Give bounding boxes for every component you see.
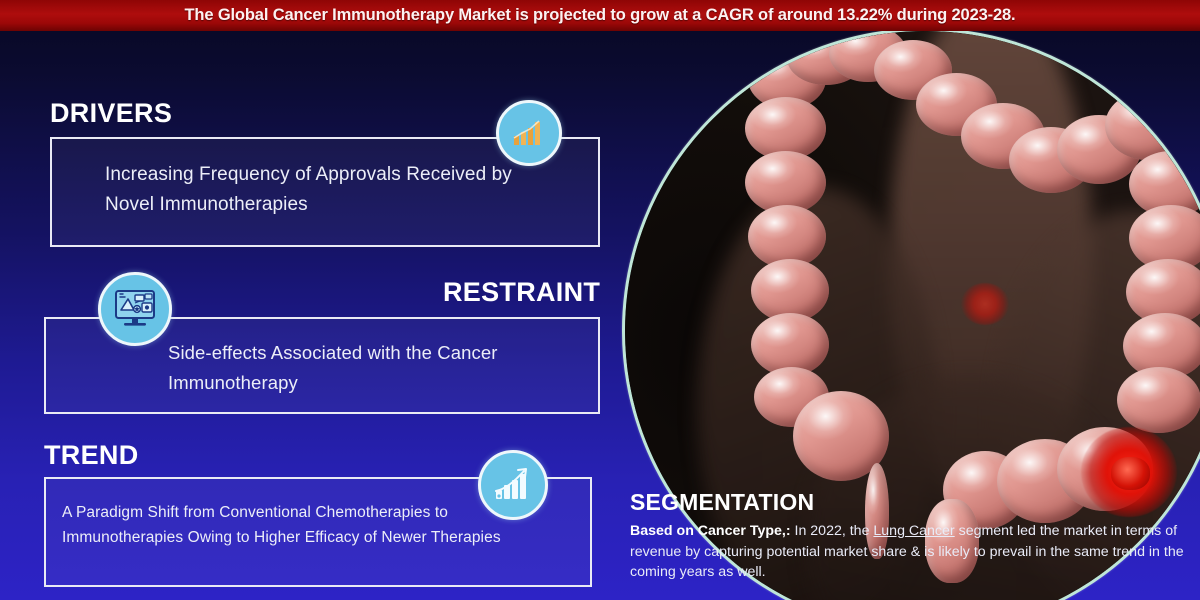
infographic-canvas: The Global Cancer Immunotherapy Market i… xyxy=(0,0,1200,600)
header-title: The Global Cancer Immunotherapy Market i… xyxy=(185,6,1016,25)
section-label-drivers: DRIVERS xyxy=(50,98,172,129)
section-label-restraint: RESTRAINT xyxy=(443,277,600,308)
header-banner: The Global Cancer Immunotherapy Market i… xyxy=(0,0,1200,31)
drivers-body-text: Increasing Frequency of Approvals Receiv… xyxy=(105,160,525,220)
segmentation-title: SEGMENTATION xyxy=(630,489,1190,516)
growth-chart-arrow-icon xyxy=(478,450,548,520)
segmentation-body: Based on Cancer Type,: In 2022, the Lung… xyxy=(630,521,1190,583)
trend-body-text: A Paradigm Shift from Conventional Chemo… xyxy=(62,500,532,550)
monitor-media-icon xyxy=(98,272,172,346)
bar-chart-icon xyxy=(496,100,562,166)
section-label-trend: TREND xyxy=(44,440,139,471)
segmentation-block: SEGMENTATION Based on Cancer Type,: In 2… xyxy=(630,489,1190,583)
segmentation-lead: Based on Cancer Type,: xyxy=(630,523,791,539)
lung-cancer-link[interactable]: Lung Cancer xyxy=(873,523,954,539)
colon-segment xyxy=(1117,367,1200,433)
segmentation-text-before-link: In 2022, the xyxy=(791,523,874,539)
tumor-lesion-core xyxy=(1111,457,1150,490)
restraint-body-text: Side-effects Associated with the Cancer … xyxy=(168,338,568,398)
tumor-lesion xyxy=(961,283,1009,325)
